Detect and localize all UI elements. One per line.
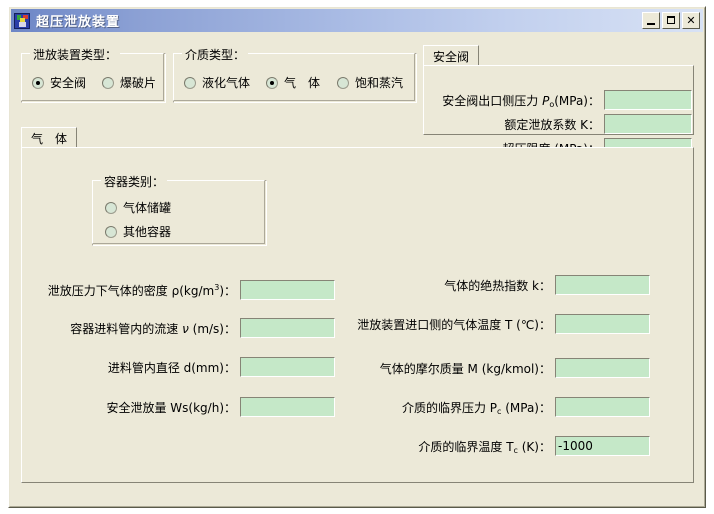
gas-tabhost: 气 体 容器类别： 气体储罐 其他容器 泄放压力下气体的密度 ρ(kg/m3)：	[21, 127, 694, 483]
adiabatic-index-input[interactable]	[555, 275, 650, 295]
radio-label: 安全阀	[50, 74, 86, 91]
critical-pressure-label: 介质的临界压力 Pc (MPa)：	[328, 399, 551, 416]
radio-label: 爆破片	[120, 74, 156, 91]
radio-label: 气体储罐	[123, 199, 171, 216]
radio-dot-icon	[102, 77, 114, 89]
window-controls: ✕	[642, 12, 700, 29]
radio-dot-icon	[337, 77, 349, 89]
tab-gas[interactable]: 气 体	[21, 127, 77, 148]
inlet-pipe-diameter-input[interactable]	[240, 357, 335, 377]
close-button[interactable]: ✕	[682, 12, 700, 29]
inlet-pipe-diameter-label: 进料管内直径 d(mm)：	[28, 359, 236, 376]
radio-label: 其他容器	[123, 223, 171, 240]
valve-outlet-pressure-input[interactable]	[604, 90, 692, 110]
gas-density-label: 泄放压力下气体的密度 ρ(kg/m3)：	[28, 282, 236, 299]
critical-temperature-input[interactable]: -1000	[555, 436, 650, 456]
window-title: 超压泄放装置	[36, 11, 120, 30]
radio-other-vessel[interactable]: 其他容器	[105, 223, 171, 240]
gas-density-input[interactable]	[240, 280, 335, 300]
radio-label: 气 体	[284, 74, 320, 91]
molar-mass-input[interactable]	[555, 358, 650, 378]
adiabatic-index-label: 气体的绝热指数 k：	[328, 277, 551, 294]
radio-saturated-steam[interactable]: 饱和蒸汽	[337, 74, 403, 91]
valve-outlet-pressure-label: 安全阀出口侧压力 Po(MPa)：	[424, 92, 600, 109]
safety-discharge-rate-label: 安全泄放量 Ws(kg/h)：	[28, 399, 236, 416]
inlet-pipe-velocity-label: 容器进料管内的流速 ν (m/s)：	[28, 320, 236, 337]
radio-dot-icon	[184, 77, 196, 89]
tab-label: 安全阀	[433, 48, 469, 65]
vessel-category-groupbox: 容器类别： 气体储罐 其他容器	[92, 180, 267, 246]
radio-gas-storage-tank[interactable]: 气体储罐	[105, 199, 171, 216]
radio-label: 液化气体	[202, 74, 250, 91]
radio-rupture-disc[interactable]: 爆破片	[102, 74, 156, 91]
safety-valve-tab-body: 安全阀出口侧压力 Po(MPa)： 额定泄放系数 K： 超压限度 (MPa)：	[423, 65, 694, 135]
radio-dot-icon	[105, 226, 117, 238]
flower-app-icon	[14, 13, 30, 29]
critical-temperature-label: 介质的临界温度 Tc (K)：	[328, 438, 551, 455]
safety-discharge-rate-input[interactable]	[240, 397, 335, 417]
radio-safety-valve[interactable]: 安全阀	[32, 74, 86, 91]
inlet-gas-temperature-label: 泄放装置进口侧的气体温度 T (℃)：	[328, 316, 551, 333]
device-type-groupbox: 泄放装置类型： 安全阀 爆破片	[21, 53, 166, 103]
device-type-groupbox-title: 泄放装置类型：	[30, 46, 120, 63]
radio-dot-icon	[105, 202, 117, 214]
critical-pressure-input[interactable]	[555, 397, 650, 417]
maximize-button[interactable]	[662, 12, 680, 29]
title-bar[interactable]: 超压泄放装置 ✕	[11, 9, 703, 32]
close-icon: ✕	[683, 13, 699, 28]
vessel-category-groupbox-title: 容器类别：	[101, 173, 167, 190]
radio-dot-icon	[266, 77, 278, 89]
radio-liquefied-gas[interactable]: 液化气体	[184, 74, 250, 91]
radio-gas[interactable]: 气 体	[266, 74, 320, 91]
radio-dot-icon	[32, 77, 44, 89]
radio-label: 饱和蒸汽	[355, 74, 403, 91]
safety-valve-tabhost: 安全阀 安全阀出口侧压力 Po(MPa)： 额定泄放系数 K： 超压限度 (MP…	[423, 45, 694, 135]
minimize-button[interactable]	[642, 12, 660, 29]
tab-safety-valve[interactable]: 安全阀	[423, 45, 479, 66]
application-window: 超压泄放装置 ✕ 泄放装置类型： 安全阀 爆破片 介质类型： 液化气体 气 体	[8, 6, 706, 508]
molar-mass-label: 气体的摩尔质量 M (kg/kmol)：	[328, 360, 551, 377]
medium-type-groupbox: 介质类型： 液化气体 气 体 饱和蒸汽	[173, 53, 417, 103]
gas-tab-body: 容器类别： 气体储罐 其他容器 泄放压力下气体的密度 ρ(kg/m3)： 容器进…	[21, 147, 694, 483]
inlet-gas-temperature-input[interactable]	[555, 314, 650, 334]
tab-label: 气 体	[31, 130, 67, 147]
inlet-pipe-velocity-input[interactable]	[240, 318, 335, 338]
medium-type-groupbox-title: 介质类型：	[182, 46, 248, 63]
